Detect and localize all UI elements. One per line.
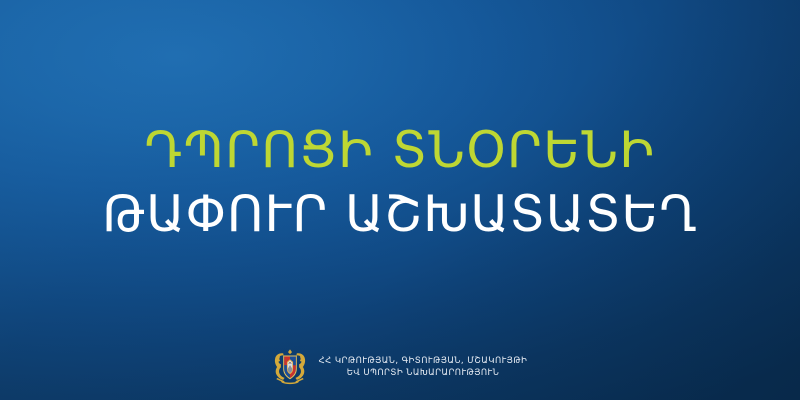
announcement-banner: ԴՊՐՈՑԻ ՏՆՕՐԵՆԻ ԹԱՓՈՒՐ ԱՇԽԱՏԱՏԵՂ (0, 0, 800, 400)
ministry-name-line-1: ՀՀ ԿՐԹՈՒԹՅԱՆ, ԳԻՏՈՒԹՅԱՆ, ՄՇԱԿՈՒՅԹԻ (319, 355, 528, 367)
ministry-name: ՀՀ ԿՐԹՈՒԹՅԱՆ, ԳԻՏՈՒԹՅԱՆ, ՄՇԱԿՈՒՅԹԻ ԵՎ ՍՊ… (319, 355, 528, 379)
ministry-name-line-2: ԵՎ ՍՊՈՐՏԻ ՆԱԽԱՐԱՐՈՒԹՅՈՒՆ (319, 367, 528, 379)
footer-branding: ՀՀ ԿՐԹՈՒԹՅԱՆ, ԳԻՏՈՒԹՅԱՆ, ՄՇԱԿՈՒՅԹԻ ԵՎ ՍՊ… (0, 348, 800, 386)
headline-block: ԴՊՐՈՑԻ ՏՆՕՐԵՆԻ ԹԱՓՈՒՐ ԱՇԽԱՏԱՏԵՂ (0, 118, 800, 246)
headline-line-2: ԹԱՓՈՒՐ ԱՇԽԱՏԱՏԵՂ (0, 182, 800, 246)
headline-line-1: ԴՊՐՈՑԻ ՏՆՕՐԵՆԻ (0, 118, 800, 182)
armenia-coat-of-arms-icon (273, 348, 307, 386)
